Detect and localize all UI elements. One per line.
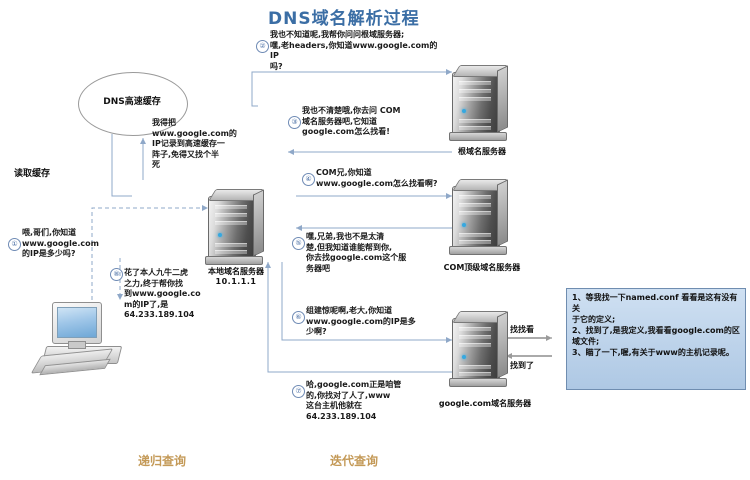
step-4-line: www.google.com怎么找看啊? xyxy=(316,179,452,190)
step-1-line: 喂,哥们,你知道 xyxy=(22,228,100,239)
server-slot xyxy=(459,89,491,93)
step-1-line: www.google.com xyxy=(22,239,100,250)
step-6-line: www.google.com的IP是多 xyxy=(306,317,434,328)
server-slot xyxy=(459,365,491,369)
step-8-line: 花了本人九牛二虎 xyxy=(124,268,202,279)
server-ip-local: 10.1.1.1 xyxy=(196,277,276,286)
server-slot xyxy=(459,327,491,331)
step-1-number: ① xyxy=(8,238,21,251)
server-base xyxy=(449,246,507,255)
step-5-line: 嘿,兄弟,我也不是太清 xyxy=(306,232,424,243)
server-label-com: COM顶级域名服务器 xyxy=(430,262,534,273)
server-body xyxy=(452,186,500,250)
step-3-number: ③ xyxy=(288,116,301,129)
server-slot xyxy=(459,233,491,237)
server-slot xyxy=(459,335,491,339)
server-body xyxy=(452,72,500,136)
step-8-line: 到www.google.co xyxy=(124,289,202,300)
server-slot xyxy=(215,221,247,225)
server-slot xyxy=(459,195,491,199)
step-8-line: 64.233.189.104 xyxy=(124,310,202,321)
step-7-number: ⑦ xyxy=(292,385,305,398)
step-7-line: 的,你找对了人了,www xyxy=(306,391,432,402)
server-led-icon xyxy=(462,223,466,227)
pc-stand xyxy=(68,341,86,349)
server-slot xyxy=(459,211,491,215)
step-8-line: m的IP了,是 xyxy=(124,300,202,311)
step-5-number: ⑤ xyxy=(292,237,305,250)
info-line: 3、瞄了一下,喔,有关于www的主机记录呢。 xyxy=(572,347,740,358)
server-slot xyxy=(459,97,491,101)
step-4-note: ④ COM兄,你知道 www.google.com怎么找看啊? xyxy=(302,168,452,189)
step-7-line: 64.233.189.104 xyxy=(306,412,432,423)
step-3-note: ③ 我也不清楚哦,你去问 COM 域名服务器吧,它知道 google.com怎么… xyxy=(288,106,428,138)
step-3-line: 我也不清楚哦,你去问 COM xyxy=(302,106,428,117)
server-slot xyxy=(459,126,491,130)
server-slot xyxy=(459,343,491,347)
step-8-line: 之力,终于帮你找 xyxy=(124,279,202,290)
step-6-number: ⑥ xyxy=(292,311,305,324)
step-3-line: 域名服务器吧,它知道 xyxy=(302,117,428,128)
step-1-note: ① 喂,哥们,你知道 www.google.com 的IP是多少吗? xyxy=(8,228,100,260)
step-6-note: ⑥ 组建惊呢啊,老大,你知道 www.google.com的IP是多 少啊? xyxy=(292,306,434,338)
step-8-note: ⑧ 花了本人九牛二虎 之力,终于帮你找 到www.google.co m的IP了… xyxy=(110,268,202,321)
step-2-line: 我也不知道呢,我帮你问问根域服务器; xyxy=(270,30,446,41)
server-side xyxy=(497,311,508,378)
step-2-line: 吗? xyxy=(270,62,446,73)
step-5-line: 楚,但我知道谁能帮到你, xyxy=(306,243,424,254)
step-6-line: 组建惊呢啊,老大,你知道 xyxy=(306,306,434,317)
named-conf-info-text: 1、等我找一下named.conf 看看是这有没有关 于它的定义; 2、找到了,… xyxy=(572,292,740,358)
server-slot xyxy=(459,203,491,207)
diagram-canvas: DNS域名解析过程 xyxy=(0,0,750,480)
step-2-note: ② 我也不知道呢,我帮你问问根域服务器; 嘿,老headers,你知道www.g… xyxy=(256,30,446,72)
server-body xyxy=(452,318,500,382)
info-line: 1、等我找一下named.conf 看看是这有没有关 xyxy=(572,292,740,314)
server-base xyxy=(449,378,507,387)
info-line: 域文件; xyxy=(572,336,740,347)
server-side xyxy=(497,65,508,132)
cache-read-label: 读取缓存 xyxy=(14,166,50,179)
step-7-line: 哈,google.com正是咱管 xyxy=(306,380,432,391)
lookup-found-label: 找到了 xyxy=(510,360,534,371)
server-side xyxy=(253,189,264,256)
server-label-local: 本地域名服务器 xyxy=(196,266,276,277)
step-4-line: COM兄,你知道 xyxy=(316,168,452,179)
step-6-line: 少啊? xyxy=(306,327,434,338)
step-1-line: 的IP是多少吗? xyxy=(22,249,100,260)
server-body xyxy=(208,196,256,260)
step-7-line: 这台主机他就在 xyxy=(306,401,432,412)
footer-recursive-query: 递归查询 xyxy=(138,452,186,469)
server-base xyxy=(205,256,263,265)
step-5-line: 你去找google.com这个服 xyxy=(306,253,424,264)
server-base xyxy=(449,132,507,141)
step-4-number: ④ xyxy=(302,173,315,186)
step-2-number: ② xyxy=(256,40,269,53)
server-slot xyxy=(215,250,247,254)
info-line: 2、找到了,是我定义,我看看google.com的区 xyxy=(572,325,740,336)
info-line: 于它的定义; xyxy=(572,314,740,325)
step-5-line: 务器吧 xyxy=(306,264,424,275)
step-8-number: ⑧ xyxy=(110,268,123,281)
server-led-icon xyxy=(218,233,222,237)
dns-cache-label: DNS高速缓存 xyxy=(78,94,186,107)
server-led-icon xyxy=(462,109,466,113)
server-slot xyxy=(459,372,491,376)
server-slot xyxy=(215,205,247,209)
step-2-line: 嘿,老headers,你知道www.google.com的IP xyxy=(270,41,446,62)
server-slot xyxy=(459,119,491,123)
step-3-line: google.com怎么找看! xyxy=(302,127,428,138)
pc-screen xyxy=(57,307,97,338)
server-side xyxy=(497,179,508,246)
server-label-root: 根域名服务器 xyxy=(442,146,522,157)
server-slot xyxy=(459,240,491,244)
step-7-note: ⑦ 哈,google.com正是咱管 的,你找对了人了,www 这台主机他就在 … xyxy=(292,380,432,422)
server-slot xyxy=(459,81,491,85)
cache-store-note: 我得把 www.google.com的 IP记录到高速缓存一 阵子,免得又找个半… xyxy=(152,118,244,171)
server-slot xyxy=(215,213,247,217)
server-led-icon xyxy=(462,355,466,359)
server-slot xyxy=(215,243,247,247)
footer-iterative-query: 迭代查询 xyxy=(330,452,378,469)
server-label-google: google.com域名服务器 xyxy=(430,398,540,409)
lookup-find-label: 找找看 xyxy=(510,324,534,335)
page-title: DNS域名解析过程 xyxy=(268,4,420,29)
step-5-note: ⑤ 嘿,兄弟,我也不是太清 楚,但我知道谁能帮到你, 你去找google.com… xyxy=(292,232,424,274)
